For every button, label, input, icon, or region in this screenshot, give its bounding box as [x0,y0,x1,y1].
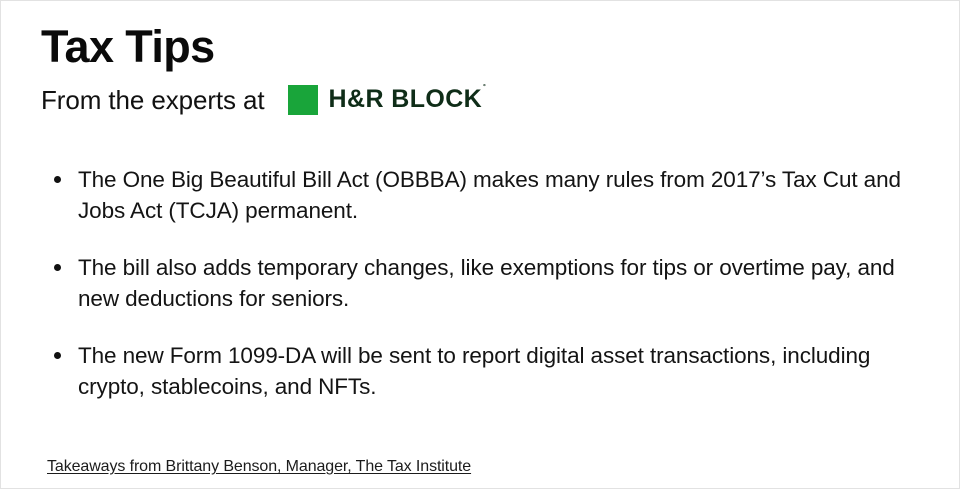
tips-list: The One Big Beautiful Bill Act (OBBBA) m… [53,164,931,402]
list-item-text: The new Form 1099-DA will be sent to rep… [78,340,931,402]
list-item-text: The One Big Beautiful Bill Act (OBBBA) m… [78,164,931,226]
tax-tips-slide: Tax Tips From the experts at H&R BLOCK˚ … [0,0,960,489]
page-title: Tax Tips [41,23,929,72]
attribution-text: Takeaways from Brittany Benson, Manager,… [47,457,471,478]
bullet-dot-icon [54,352,61,359]
trademark-icon: ˚ [483,83,486,93]
hr-block-logo: H&R BLOCK˚ [288,85,486,115]
slide-header: Tax Tips From the experts at H&R BLOCK˚ [41,23,929,117]
byline-label: From the experts at [41,87,265,113]
byline-row: From the experts at H&R BLOCK˚ [41,83,929,117]
brand-square-icon [288,85,318,115]
list-item: The new Form 1099-DA will be sent to rep… [53,340,931,402]
list-item-text: The bill also adds temporary changes, li… [78,252,931,314]
brand-wordmark: H&R BLOCK˚ [329,87,486,112]
bullet-dot-icon [54,264,61,271]
bullet-dot-icon [54,176,61,183]
list-item: The bill also adds temporary changes, li… [53,252,931,314]
brand-wordmark-text: H&R BLOCK [329,85,483,113]
list-item: The One Big Beautiful Bill Act (OBBBA) m… [53,164,931,226]
